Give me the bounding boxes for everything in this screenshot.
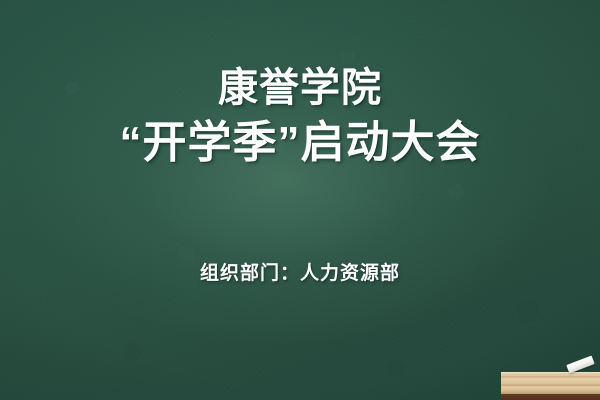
- chalk-tray-base: [501, 394, 600, 400]
- slide-title: 康誉学院 “开学季”启动大会: [0, 62, 600, 172]
- chalk-tray: [501, 372, 600, 400]
- chalk-tray-board: [501, 372, 600, 394]
- slide-content: 康誉学院 “开学季”启动大会 组织部门：人力资源部: [0, 0, 600, 400]
- title-line-2: “开学季”启动大会: [0, 114, 600, 172]
- title-line-1: 康誉学院: [0, 62, 600, 114]
- presentation-slide: 康誉学院 “开学季”启动大会 组织部门：人力资源部: [0, 0, 600, 400]
- subtitle-text: 组织部门：人力资源部: [0, 258, 600, 285]
- slide-subtitle: 组织部门：人力资源部: [0, 258, 600, 285]
